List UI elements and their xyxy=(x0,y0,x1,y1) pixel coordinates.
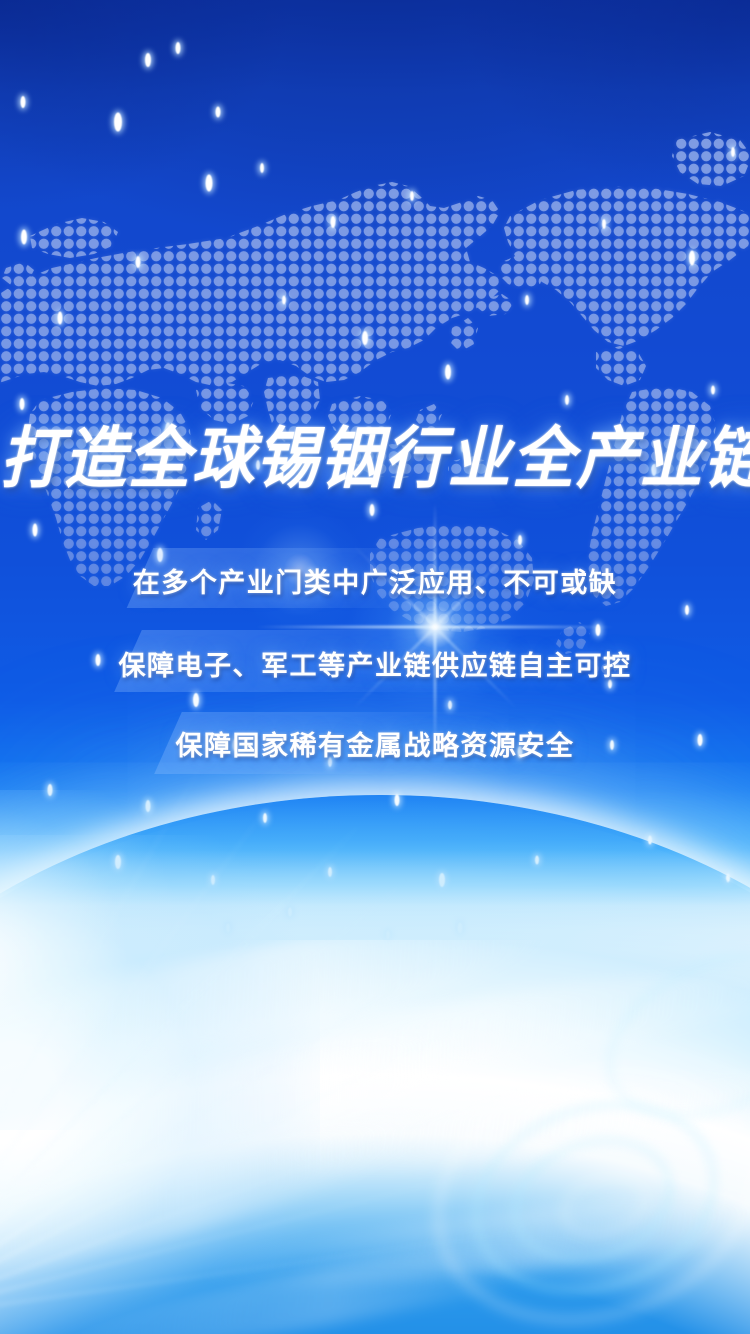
poster-canvas: 打造全球锡铟行业全产业链链主 在多个产业门类中广泛应用、不可或缺 保障电子、军工… xyxy=(0,0,750,1334)
star-sparkle xyxy=(193,693,199,707)
subtitle-line-3: 保障国家稀有金属战略资源安全 xyxy=(0,724,750,763)
star-sparkle xyxy=(331,216,336,228)
star-sparkle xyxy=(33,524,38,537)
star-sparkle xyxy=(689,251,695,266)
star-sparkle xyxy=(386,931,390,940)
star-sparkle xyxy=(596,624,601,636)
star-sparkle xyxy=(115,855,121,869)
star-sparkle xyxy=(206,175,213,192)
star-sparkle xyxy=(448,701,452,710)
star-sparkle xyxy=(525,295,529,305)
subtitle-line-1: 在多个产业门类中广泛应用、不可或缺 xyxy=(0,561,750,600)
subtitle-line-2: 保障电子、军工等产业链供应链自主可控 xyxy=(0,644,750,683)
star-sparkle xyxy=(20,398,25,410)
star-sparkle xyxy=(518,535,522,545)
star-sparkle xyxy=(288,908,292,917)
star-sparkle xyxy=(263,813,267,823)
star-sparkle xyxy=(260,163,264,173)
page-title: 打造全球锡铟行业全产业链链主 xyxy=(0,415,750,504)
star-sparkle xyxy=(731,147,735,157)
star-sparkle xyxy=(535,856,539,865)
star-sparkle xyxy=(711,386,715,395)
star-sparkle xyxy=(146,800,151,812)
star-sparkle xyxy=(648,836,652,845)
star-sparkle xyxy=(328,867,332,877)
star-sparkle xyxy=(439,873,445,887)
star-sparkle xyxy=(726,874,730,883)
star-sparkle xyxy=(282,296,286,305)
star-sparkle xyxy=(565,395,569,405)
star-sparkle xyxy=(114,113,122,132)
star-sparkle xyxy=(410,191,414,201)
star-sparkle xyxy=(395,794,400,806)
star-sparkle xyxy=(176,42,181,54)
star-sparkle xyxy=(216,107,221,118)
star-sparkle xyxy=(362,331,368,345)
star-sparkle xyxy=(21,230,27,245)
star-sparkle xyxy=(21,96,26,108)
star-sparkle xyxy=(602,219,606,229)
star-sparkle xyxy=(58,312,63,325)
star-sparkle xyxy=(370,504,375,516)
planet-cloud-texture xyxy=(0,940,750,1334)
star-sparkle xyxy=(211,875,215,885)
star-sparkle xyxy=(136,256,141,268)
star-sparkle xyxy=(458,923,463,934)
star-sparkle xyxy=(685,605,689,615)
star-sparkle xyxy=(445,365,451,380)
star-sparkle xyxy=(48,784,53,796)
star-sparkle xyxy=(226,924,230,933)
star-sparkle xyxy=(157,548,163,562)
star-sparkle xyxy=(145,53,151,67)
